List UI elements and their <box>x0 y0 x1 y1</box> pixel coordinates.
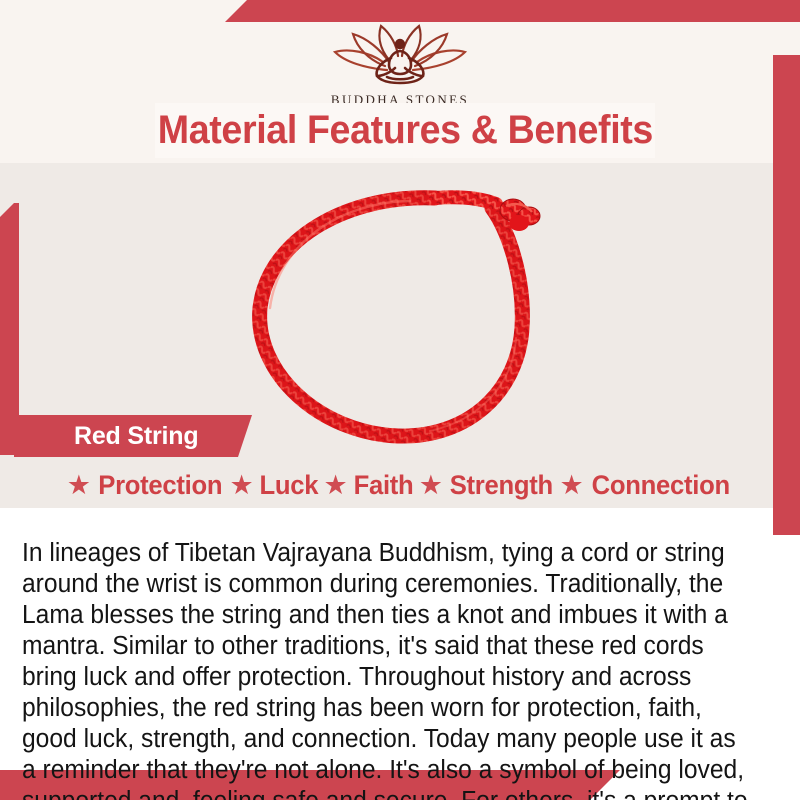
star-icon: ★ <box>419 472 443 499</box>
product-image <box>230 168 590 458</box>
star-icon: ★ <box>229 472 253 499</box>
star-icon: ★ <box>560 472 584 499</box>
benefit-item-protection: ★ Protection <box>67 470 226 501</box>
lotus-meditation-figure-icon <box>325 18 475 90</box>
benefit-item-connection: ★ Connection <box>560 470 734 501</box>
star-icon: ★ <box>67 472 91 499</box>
benefit-label: Faith <box>353 470 413 501</box>
benefit-label: Connection <box>591 470 729 501</box>
red-string-bracelet-illustration <box>230 168 590 458</box>
benefit-label: Luck <box>259 470 318 501</box>
product-label: Red String <box>74 422 198 451</box>
star-icon: ★ <box>324 472 348 499</box>
page-title: Material Features & Benefits <box>157 108 652 153</box>
product-label-banner: Red String <box>14 415 252 457</box>
brand-logo: BUDDHA STONES <box>0 18 800 108</box>
benefit-label: Strength <box>450 470 553 501</box>
description-paragraph: In lineages of Tibetan Vajrayana Buddhis… <box>22 538 748 800</box>
title-banner: Material Features & Benefits <box>155 103 655 158</box>
benefit-item-faith: ★ Faith <box>324 470 415 501</box>
infographic-page: BUDDHA STONES Material Features & Benefi… <box>0 0 800 800</box>
benefits-list: ★ Protection ★ Luck ★ Faith ★ Strength ★… <box>16 466 784 504</box>
benefit-item-strength: ★ Strength <box>419 470 556 501</box>
decorative-right-bar <box>773 55 800 535</box>
benefit-label: Protection <box>98 470 222 501</box>
benefit-item-luck: ★ Luck <box>229 470 319 501</box>
